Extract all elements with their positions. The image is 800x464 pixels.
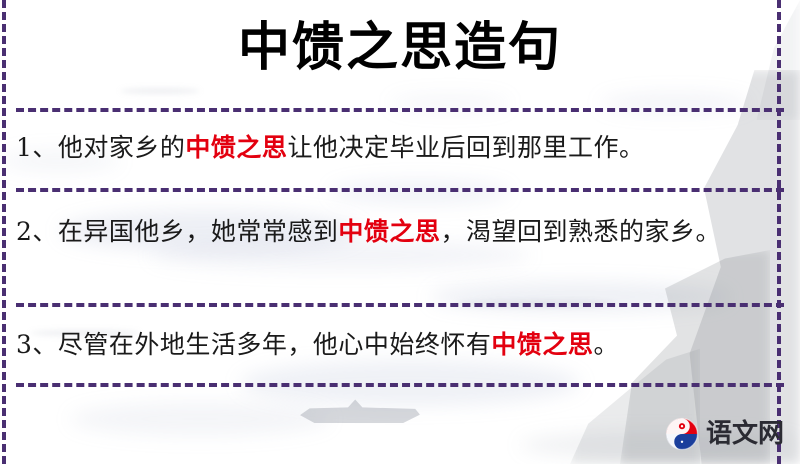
ink-wash-blob [430, 282, 730, 312]
sentence-text-before: 他对家乡的 [58, 133, 186, 162]
site-logo-text: 语文网 [706, 421, 784, 447]
ink-boat-silhouette [300, 398, 420, 424]
yin-yang-circle-icon [664, 416, 700, 452]
dashed-divider-2 [16, 188, 784, 192]
example-sentence-2: 2、在异国他乡，她常常感到中馈之思，渴望回到熟悉的家乡。 [16, 212, 768, 252]
highlighted-keyword: 中馈之思 [185, 133, 287, 162]
page-title: 中馈之思造句 [0, 18, 800, 78]
sentence-card: 中馈之思造句 1、他对家乡的中馈之思让他决定毕业后回到那里工作。 2、在异国他乡… [0, 0, 800, 464]
ink-streak [120, 88, 200, 94]
dashed-divider-4 [16, 383, 784, 387]
sentence-number: 3、 [16, 330, 58, 359]
sentence-number: 1、 [16, 133, 58, 162]
ink-wash-blob [330, 180, 510, 204]
example-sentence-3: 3、尽管在外地生活多年，他心中始终怀有中馈之思。 [16, 325, 768, 365]
dashed-divider-3 [16, 303, 784, 307]
sentence-number: 2、 [16, 217, 58, 246]
ink-wash-blob [70, 402, 330, 436]
highlighted-keyword: 中馈之思 [491, 330, 593, 359]
site-logo[interactable]: 语文网 [664, 412, 792, 456]
dashed-divider-1 [16, 108, 784, 112]
sentence-text-before: 在异国他乡，她常常感到 [58, 217, 339, 246]
sentence-text-after: 让他决定毕业后回到那里工作。 [287, 133, 644, 162]
sentence-text-before: 尽管在外地生活多年，他心中始终怀有 [58, 330, 492, 359]
sentence-text-after: ，渴望回到熟悉的家乡。 [440, 217, 721, 246]
example-sentence-1: 1、他对家乡的中馈之思让他决定毕业后回到那里工作。 [16, 128, 768, 168]
highlighted-keyword: 中馈之思 [338, 217, 440, 246]
sentence-text-after: 。 [593, 330, 619, 359]
